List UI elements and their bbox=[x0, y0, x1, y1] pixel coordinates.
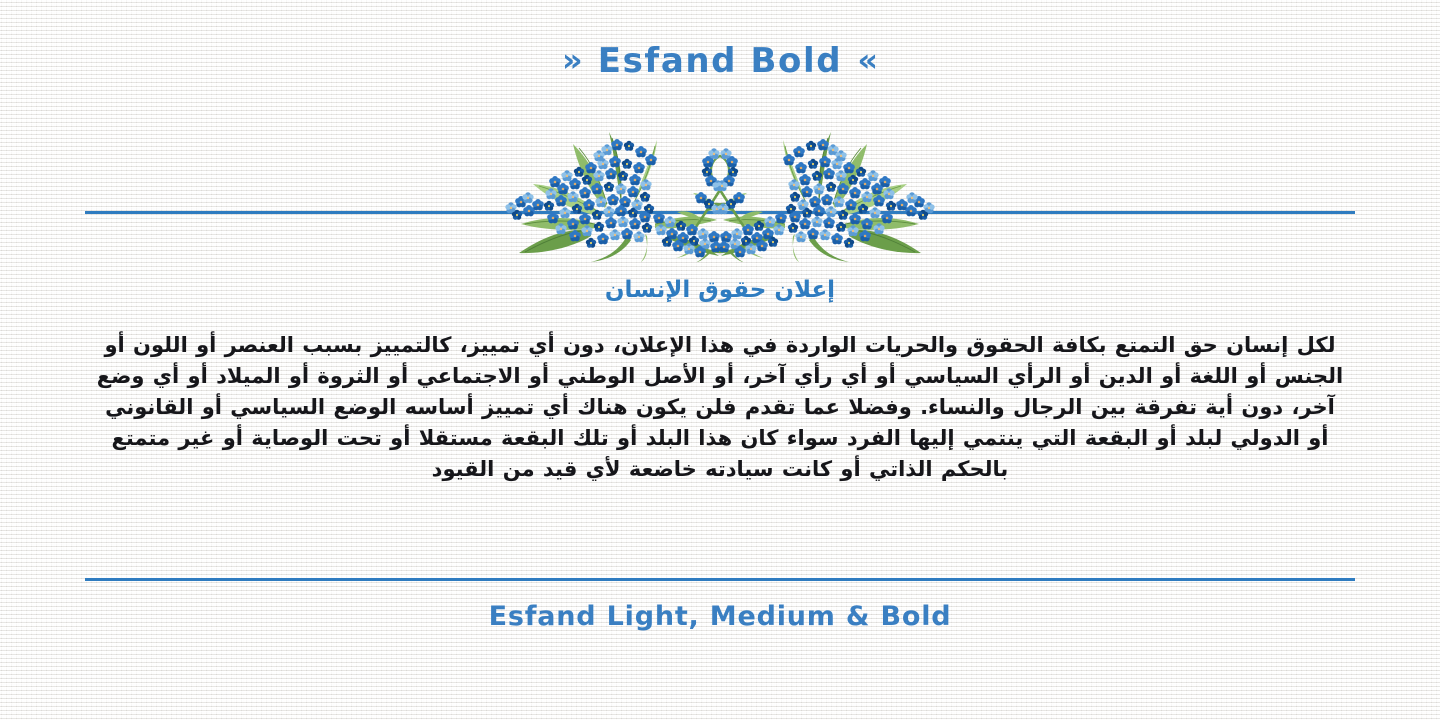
title-text: Esfand Bold bbox=[598, 44, 842, 78]
arabic-body-text: لكل إنسان حق التمتع بكافة الحقوق والحريا… bbox=[95, 330, 1345, 485]
floral-ornament-icon bbox=[495, 112, 945, 262]
footer-caption: Esfand Light, Medium & Bold bbox=[0, 601, 1440, 633]
guillemet-left-icon: » bbox=[552, 44, 593, 76]
specimen-page: » Esfand Bold « bbox=[0, 0, 1440, 720]
guillemet-right-icon: « bbox=[847, 44, 888, 76]
arabic-subtitle: إعلان حقوق الإنسان bbox=[0, 278, 1440, 303]
page-title: » Esfand Bold « bbox=[0, 44, 1440, 78]
divider-bottom bbox=[85, 578, 1355, 581]
